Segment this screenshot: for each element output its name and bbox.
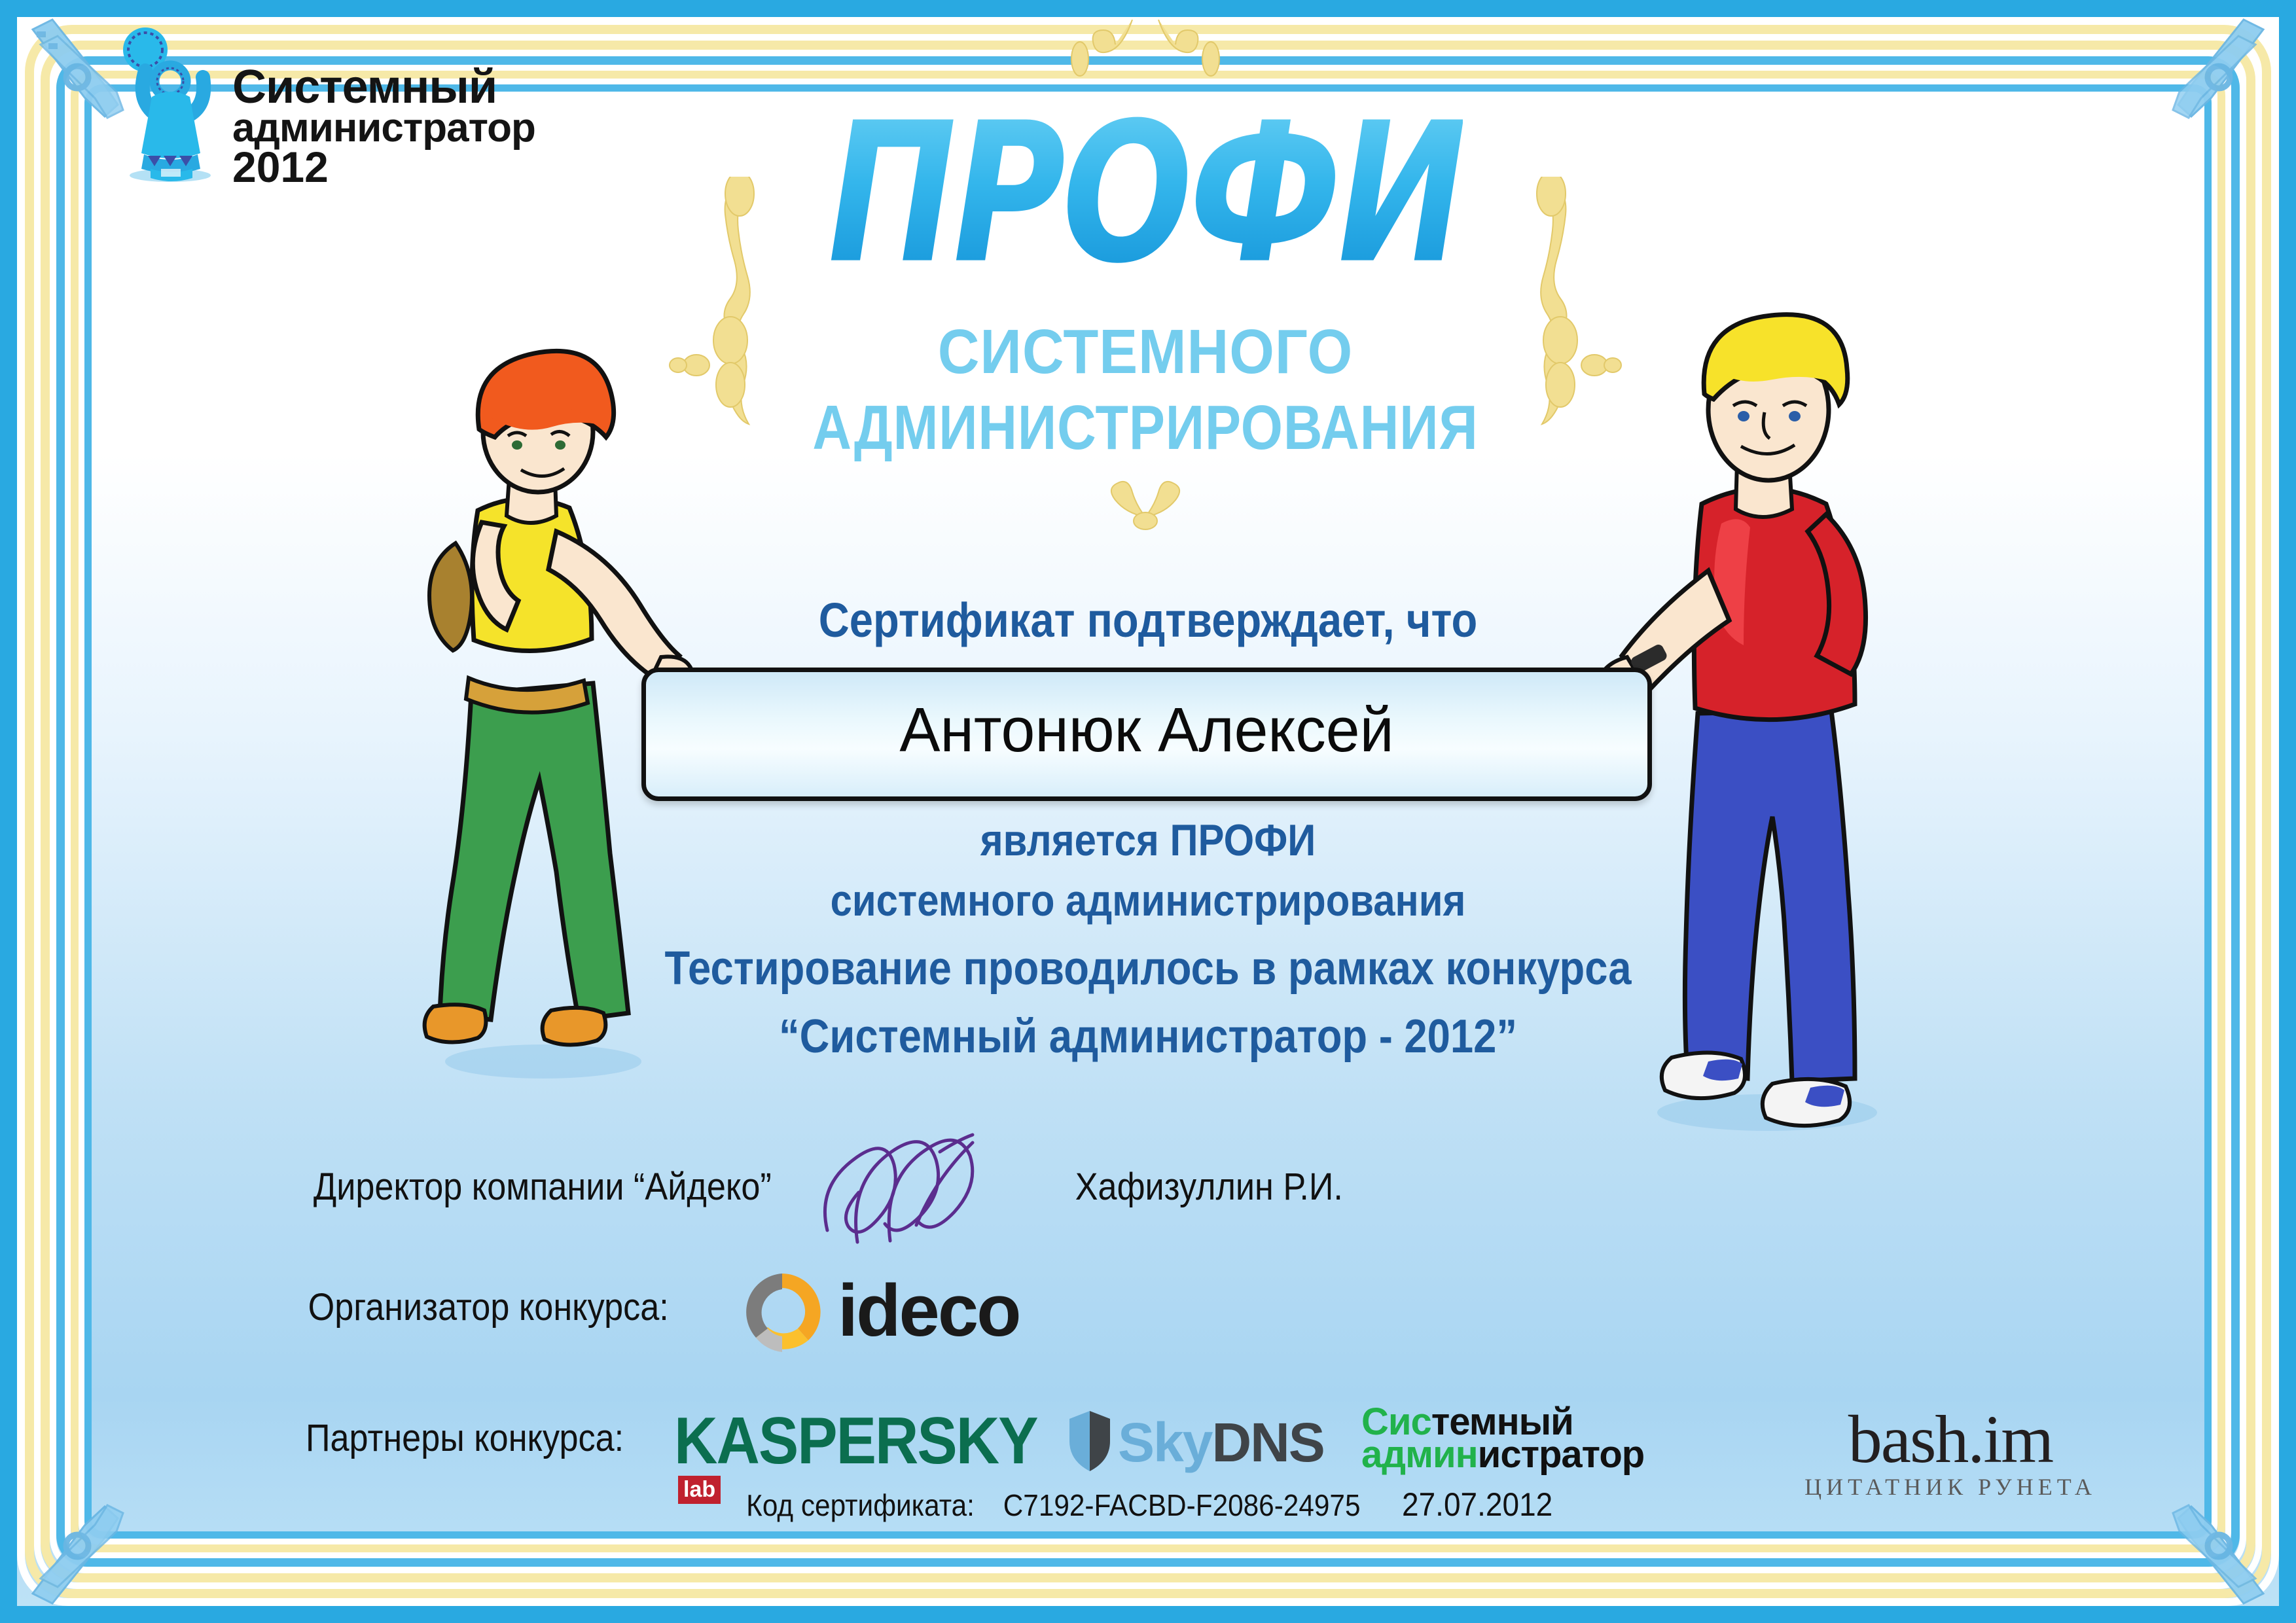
certificate-code-line: Код сертификата: C7192-FACBD-F2086-24975… bbox=[0, 1486, 2296, 1524]
certificate-date: 27.07.2012 bbox=[1402, 1486, 1552, 1524]
recipient-name: Антонюк Алексей bbox=[661, 694, 1632, 766]
pliers-corner-icon bbox=[7, 1453, 170, 1616]
signer-name: Хафизуллин Р.И. bbox=[1075, 1165, 1343, 1209]
bashim-wordmark: bash.im bbox=[1780, 1400, 2121, 1478]
ideco-wordmark: ideco bbox=[838, 1268, 1020, 1353]
ideco-swirl-ring-icon bbox=[733, 1263, 831, 1361]
event-logo-line3: 2012 bbox=[232, 147, 535, 187]
recipient-name-panel: Антонюк Алексей bbox=[641, 668, 1652, 801]
profi-header: ПРОФИ СИСТЕМНОГО АДМИНИСТРИРОВАНИЯ bbox=[694, 79, 1597, 497]
ornament-bottom-icon bbox=[1047, 458, 1244, 537]
body-line-4: “Системный администратор - 2012” bbox=[137, 1010, 2158, 1063]
skydns-dns-text: DNS bbox=[1211, 1412, 1323, 1473]
certificate-code-value: C7192-FACBD-F2086-24975 bbox=[1003, 1488, 1361, 1523]
certificate-code-label: Код сертификата: bbox=[746, 1488, 975, 1523]
kaspersky-logo-icon: KASPERSKYlab bbox=[674, 1407, 1041, 1479]
pliers-corner-icon bbox=[2126, 7, 2289, 170]
profi-subtitle-line2: АДМИНИСТРИРОВАНИЯ bbox=[757, 392, 1534, 464]
event-logo-line2: администратор bbox=[232, 109, 535, 147]
sysadmin-magazine-icon: Системный администратор bbox=[1361, 1406, 1715, 1484]
ideco-logo: ideco bbox=[733, 1263, 1100, 1361]
sysadmin-mascot-icon bbox=[105, 26, 236, 183]
profi-subtitle-line1: СИСТЕМНОГО bbox=[730, 316, 1561, 388]
bashim-logo-icon: bash.im ЦИТАТНИК РУНЕТА bbox=[1780, 1400, 2121, 1492]
body-line-2: системного администрирования bbox=[137, 875, 2158, 926]
organizer-row: Организатор конкурса: ideco bbox=[288, 1270, 1204, 1368]
signature-label: Директор компании “Айдеко” bbox=[314, 1165, 772, 1209]
skydns-wordmark: SkyDNS bbox=[1118, 1411, 1324, 1474]
certificate-page: Системный администратор 2012 bbox=[0, 0, 2296, 1623]
pliers-corner-icon bbox=[2126, 1453, 2289, 1616]
skydns-shield-icon bbox=[1067, 1408, 1113, 1474]
body-line-3: Тестирование проводилось в рамках конкур… bbox=[137, 942, 2158, 995]
event-logo: Системный администратор 2012 bbox=[105, 26, 563, 183]
profi-title: ПРОФИ bbox=[828, 81, 1463, 306]
sysadmin-black-2: истратор bbox=[1478, 1433, 1645, 1476]
handwritten-signature-icon bbox=[812, 1126, 1001, 1250]
signature-row: Директор компании “Айдеко” Хафизуллин Р.… bbox=[288, 1153, 1728, 1238]
sysadmin-green-2: админ bbox=[1361, 1433, 1478, 1476]
event-logo-line1: Системный bbox=[232, 65, 535, 109]
organizer-label: Организатор конкурса: bbox=[308, 1285, 669, 1329]
partners-label: Партнеры конкурса: bbox=[306, 1416, 624, 1460]
event-logo-text: Системный администратор 2012 bbox=[232, 65, 535, 187]
body-line-1: является ПРОФИ bbox=[137, 815, 2158, 866]
certificate-body: является ПРОФИ системного администрирова… bbox=[0, 815, 2296, 1063]
skydns-sky-text: Sky bbox=[1118, 1412, 1211, 1473]
skydns-logo: SkyDNS bbox=[1067, 1408, 1342, 1480]
kaspersky-wordmark: KASPERSKY bbox=[674, 1404, 1037, 1480]
sysadmin-partner-line2: администратор bbox=[1361, 1438, 1715, 1471]
confirm-text: Сертификат подтверждает, что bbox=[137, 592, 2158, 648]
